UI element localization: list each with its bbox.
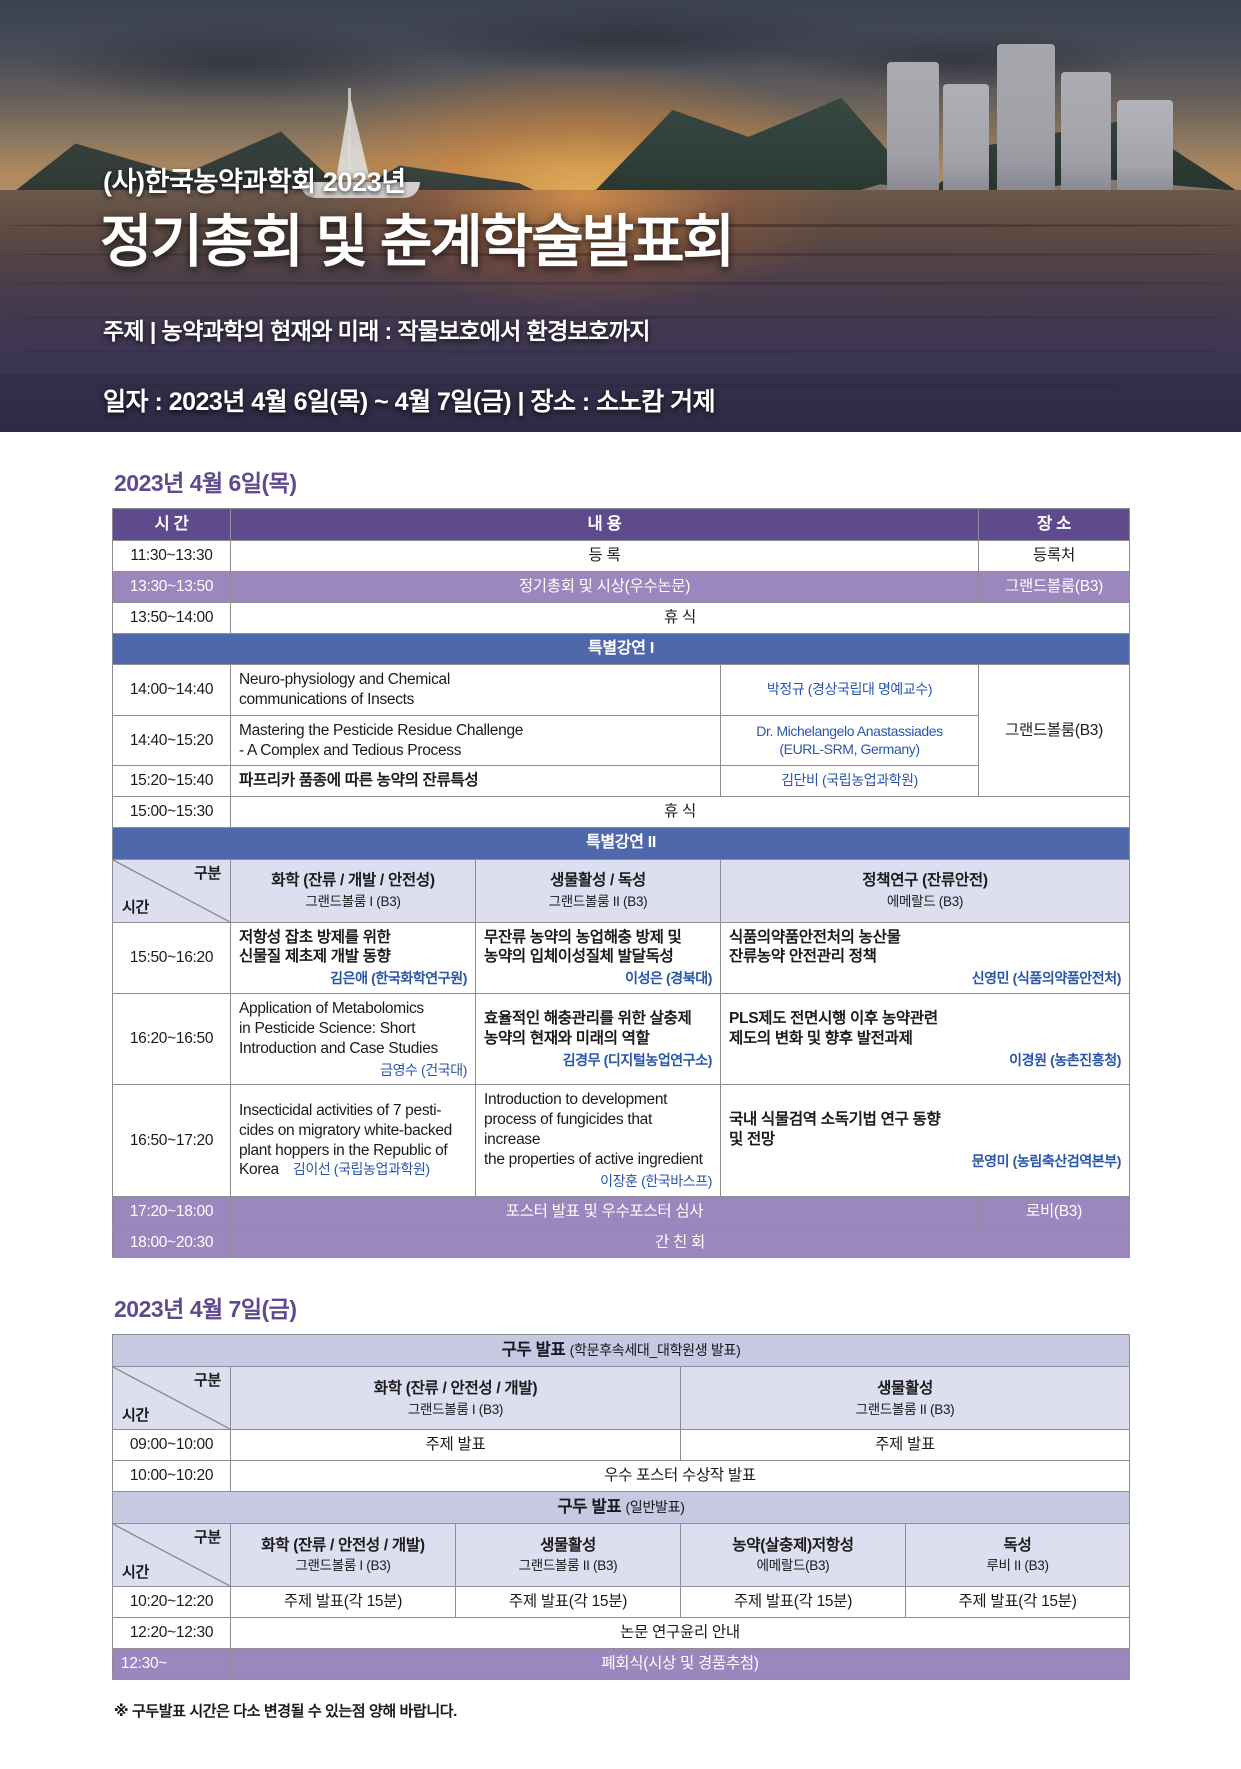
row-place: 그랜드볼룸(B3) (979, 571, 1130, 602)
track-name: 농약(살충제)저항성 (732, 1537, 853, 1554)
table-row: 11:30~13:30 등 록 등록처 (113, 541, 1130, 572)
day2-table: 구두 발표 (학문후속세대_대학원생 발표) 구분 시간 화학 (잔류 / 안전… (112, 1334, 1130, 1679)
session-cell: 주제 발표(각 15분) (456, 1587, 681, 1618)
track-room: 그랜드볼룸 I (B3) (239, 1401, 672, 1418)
table-row: 구두 발표 (일반발표) (113, 1492, 1130, 1524)
corner-kubun: 구분 (194, 864, 221, 883)
row-speaker: Dr. Michelangelo Anastassiades(EURL-SRM,… (721, 715, 979, 766)
band-sub-label: (학문후속세대_대학원생 발표) (570, 1342, 741, 1358)
table-row: 16:50~17:20 Insecticidal activities of 7… (113, 1085, 1130, 1196)
session-cell: 저항성 잡초 방제를 위한신물질 제초제 개발 동향 김은애 (한국화학연구원) (231, 922, 476, 994)
table-row: 14:00~14:40 Neuro-physiology and Chemica… (113, 665, 1130, 716)
row-time: 12:30~ (113, 1648, 231, 1679)
session-cell: PLS제도 전면시행 이후 농약관련제도의 변화 및 향후 발전과제 이경원 (… (721, 994, 1130, 1085)
row-content: 휴 식 (231, 797, 1130, 828)
row-title: 파프리카 품종에 따른 농약의 잔류특성 (231, 766, 721, 797)
table-row: 특별강연 II (113, 828, 1130, 859)
row-content: 포스터 발표 및 우수포스터 심사 (231, 1196, 979, 1227)
track-header-3: 농약(살충제)저항성 에메랄드(B3) (681, 1524, 906, 1587)
row-time: 13:50~14:00 (113, 602, 231, 633)
row-time: 11:30~13:30 (113, 541, 231, 572)
row-content: 우수 포스터 수상작 발표 (231, 1461, 1130, 1492)
table-row: 특별강연 I (113, 633, 1130, 664)
track-name: 생물활성 (877, 1380, 933, 1397)
row-time: 10:00~10:20 (113, 1461, 231, 1492)
corner-sigan: 시간 (122, 898, 149, 917)
speaker-name: 김은애 (한국화학연구원) (239, 970, 467, 988)
track-name: 독성 (1004, 1537, 1032, 1554)
table-row: 구분 시간 화학 (잔류 / 개발 / 안전성) 그랜드볼룸 I (B3) 생물… (113, 859, 1130, 922)
table-row: 17:20~18:00 포스터 발표 및 우수포스터 심사 로비(B3) (113, 1196, 1130, 1227)
session-cell: 주제 발표(각 15분) (906, 1587, 1130, 1618)
session-cell: 주제 발표(각 15분) (231, 1587, 456, 1618)
row-time: 18:00~20:30 (113, 1227, 231, 1258)
table-row: 12:20~12:30 논문 연구윤리 안내 (113, 1618, 1130, 1649)
row-time: 16:20~16:50 (113, 994, 231, 1085)
program-poster: (사)한국농약과학회 2023년 정기총회 및 춘계학술발표회 주제 | 농약과… (0, 0, 1241, 1769)
track-name: 화학 (잔류 / 안전성 / 개발) (261, 1537, 424, 1554)
corner-kubun: 구분 (194, 1371, 221, 1390)
col-header-place: 장 소 (979, 509, 1130, 541)
track-name: 생물활성 / 독성 (550, 872, 646, 889)
session-title: Application of Metabolomicsin Pesticide … (239, 1000, 438, 1057)
row-content: 간 친 회 (231, 1227, 1130, 1258)
speaker-name: 이장훈 (한국바스프) (484, 1173, 712, 1191)
speaker-name: 이성은 (경북대) (484, 970, 712, 988)
track-room: 에메랄드 (B3) (729, 893, 1121, 910)
speaker-name: 이경원 (농촌진흥청) (729, 1052, 1121, 1070)
track-room: 루비 II (B3) (914, 1557, 1121, 1574)
speaker-name: 박정규 (경상국립대 명예교수) (729, 681, 970, 699)
speaker-name: 문영미 (농림축산검역본부) (729, 1153, 1121, 1171)
table-row: 구분 시간 화학 (잔류 / 안전성 / 개발) 그랜드볼룸 I (B3) 생물… (113, 1524, 1130, 1587)
row-speaker: 김단비 (국립농업과학원) (721, 766, 979, 797)
row-content: 휴 식 (231, 602, 1130, 633)
row-time: 15:00~15:30 (113, 797, 231, 828)
oral-session-1-band: 구두 발표 (학문후속세대_대학원생 발표) (113, 1335, 1130, 1367)
table-row: 09:00~10:00 주제 발표 주제 발표 (113, 1430, 1130, 1461)
track-header-1: 화학 (잔류 / 안전성 / 개발) 그랜드볼룸 I (B3) (231, 1367, 681, 1430)
track-name: 화학 (잔류 / 개발 / 안전성) (271, 872, 434, 889)
track-name: 정책연구 (잔류안전) (862, 872, 987, 889)
corner-sigan: 시간 (122, 1406, 149, 1425)
footnote: ※ 구두발표 시간은 다소 변경될 수 있는점 양해 바랍니다. (114, 1700, 1129, 1721)
session-title: 저항성 잡초 방제를 위한신물질 제초제 개발 동향 (239, 929, 391, 966)
hero-banner: (사)한국농약과학회 2023년 정기총회 및 춘계학술발표회 주제 | 농약과… (0, 0, 1241, 432)
row-content: 논문 연구윤리 안내 (231, 1618, 1130, 1649)
day1-body: 시 간 내 용 장 소 11:30~13:30 등 록 등록처 13:30~13… (113, 509, 1130, 1258)
banner-dateline: 일자 : 2023년 4월 6일(목) ~ 4월 7일(금) | 장소 : 소노… (103, 382, 715, 418)
track-room: 그랜드볼룸 II (B3) (689, 1401, 1121, 1418)
row-time: 17:20~18:00 (113, 1196, 231, 1227)
session-cell: Application of Metabolomicsin Pesticide … (231, 994, 476, 1085)
banner-text-block: (사)한국농약과학회 2023년 정기총회 및 춘계학술발표회 주제 | 농약과… (0, 0, 1241, 432)
col-header-time: 시 간 (113, 509, 231, 541)
table-row: 구두 발표 (학문후속세대_대학원생 발표) (113, 1335, 1130, 1367)
table-row: 12:30~ 폐회식(시상 및 경품추첨) (113, 1648, 1130, 1679)
track-name: 생물활성 (540, 1537, 596, 1554)
row-time: 13:30~13:50 (113, 571, 231, 602)
session-cell: 식품의약품안전처의 농산물잔류농약 안전관리 정책 신영민 (식품의약품안전처) (721, 922, 1130, 994)
session-cell: Introduction to developmentprocess of fu… (476, 1085, 721, 1196)
track-header-2: 생물활성 / 독성 그랜드볼룸 II (B3) (476, 859, 721, 922)
session-title: PLS제도 전면시행 이후 농약관련제도의 변화 및 향후 발전과제 (729, 1010, 938, 1047)
row-time: 14:00~14:40 (113, 665, 231, 716)
row-title: Mastering the Pesticide Residue Challeng… (231, 715, 721, 766)
track-room: 그랜드볼룸 II (B3) (484, 893, 712, 910)
speaker-name: 김단비 (국립농업과학원) (729, 772, 970, 790)
row-time: 15:20~15:40 (113, 766, 231, 797)
row-content: 폐회식(시상 및 경품추첨) (231, 1648, 1130, 1679)
banner-pretitle: (사)한국농약과학회 2023년 (103, 160, 406, 199)
band-sub-label: (일반발표) (626, 1499, 685, 1515)
table-row: 구분 시간 화학 (잔류 / 안전성 / 개발) 그랜드볼룸 I (B3) 생물… (113, 1367, 1130, 1430)
speaker-name: 김이선 (국립농업과학원) (293, 1161, 430, 1177)
session-cell: 국내 식물검역 소독기법 연구 동향및 전망 문영미 (농림축산검역본부) (721, 1085, 1130, 1196)
corner-kubun: 구분 (194, 1528, 221, 1547)
row-content: 등 록 (231, 541, 979, 572)
table-row: 16:20~16:50 Application of Metabolomicsi… (113, 994, 1130, 1085)
row-title: Neuro-physiology and Chemicalcommunicati… (231, 665, 721, 716)
session-cell: Insecticidal activities of 7 pesti-cides… (231, 1085, 476, 1196)
special-lecture-1-band: 특별강연 I (113, 633, 1130, 664)
session-title: 국내 식물검역 소독기법 연구 동향및 전망 (729, 1111, 940, 1148)
row-content: 정기총회 및 시상(우수논문) (231, 571, 979, 602)
table-row: 시 간 내 용 장 소 (113, 509, 1130, 541)
day2-heading: 2023년 4월 7일(금) (114, 1290, 1129, 1324)
table-row: 10:20~12:20 주제 발표(각 15분) 주제 발표(각 15분) 주제… (113, 1587, 1130, 1618)
table-row: 15:20~15:40 파프리카 품종에 따른 농약의 잔류특성 김단비 (국립… (113, 766, 1130, 797)
table-row: 13:50~14:00 휴 식 (113, 602, 1130, 633)
band-main-label: 구두 발표 (557, 1498, 621, 1516)
row-time: 15:50~16:20 (113, 922, 231, 994)
table-row: 15:50~16:20 저항성 잡초 방제를 위한신물질 제초제 개발 동향 김… (113, 922, 1130, 994)
session-title: 효율적인 해충관리를 위한 살충제농약의 현재와 미래의 역할 (484, 1010, 691, 1047)
table-row: 10:00~10:20 우수 포스터 수상작 발표 (113, 1461, 1130, 1492)
speaker-name: 김경무 (디지털농업연구소) (484, 1052, 712, 1070)
corner-header: 구분 시간 (113, 1524, 231, 1587)
row-speaker: 박정규 (경상국립대 명예교수) (721, 665, 979, 716)
special-lecture-2-band: 특별강연 II (113, 828, 1130, 859)
row-time: 12:20~12:30 (113, 1618, 231, 1649)
speaker-name: Dr. Michelangelo Anastassiades(EURL-SRM,… (729, 723, 970, 759)
track-room: 그랜드볼룸 I (B3) (239, 1557, 447, 1574)
track-header-3: 정책연구 (잔류안전) 에메랄드 (B3) (721, 859, 1130, 922)
session-cell: 효율적인 해충관리를 위한 살충제농약의 현재와 미래의 역할 김경무 (디지털… (476, 994, 721, 1085)
table-row: 15:00~15:30 휴 식 (113, 797, 1130, 828)
speaker-name: 금영수 (건국대) (239, 1062, 467, 1080)
speaker-name: 신영민 (식품의약품안전처) (729, 970, 1121, 988)
track-header-1: 화학 (잔류 / 안전성 / 개발) 그랜드볼룸 I (B3) (231, 1524, 456, 1587)
session-cell: 주제 발표 (681, 1430, 1130, 1461)
row-time: 09:00~10:00 (113, 1430, 231, 1461)
session-title: 식품의약품안전처의 농산물잔류농약 안전관리 정책 (729, 929, 901, 966)
schedule-section: 2023년 4월 6일(목) 시 간 내 용 장 소 11:30~13:30 등… (0, 464, 1241, 1769)
row-time: 10:20~12:20 (113, 1587, 231, 1618)
row-place: 로비(B3) (979, 1196, 1130, 1227)
row-time: 14:40~15:20 (113, 715, 231, 766)
corner-header: 구분 시간 (113, 859, 231, 922)
row-place: 그랜드볼룸(B3) (979, 665, 1130, 797)
track-header-4: 독성 루비 II (B3) (906, 1524, 1130, 1587)
session-title: Introduction to developmentprocess of fu… (484, 1091, 703, 1167)
track-room: 에메랄드(B3) (689, 1557, 897, 1574)
session-cell: 주제 발표(각 15분) (681, 1587, 906, 1618)
corner-header: 구분 시간 (113, 1367, 231, 1430)
oral-session-2-band: 구두 발표 (일반발표) (113, 1492, 1130, 1524)
track-room: 그랜드볼룸 I (B3) (239, 893, 467, 910)
table-row: 14:40~15:20 Mastering the Pesticide Resi… (113, 715, 1130, 766)
corner-sigan: 시간 (122, 1563, 149, 1582)
track-header-1: 화학 (잔류 / 개발 / 안전성) 그랜드볼룸 I (B3) (231, 859, 476, 922)
row-time: 16:50~17:20 (113, 1085, 231, 1196)
col-header-content: 내 용 (231, 509, 979, 541)
banner-subject: 주제 | 농약과학의 현재와 미래 : 작물보호에서 환경보호까지 (103, 312, 650, 346)
session-cell: 무잔류 농약의 농업해충 방제 및농약의 입체이성질체 발달독성 이성은 (경북… (476, 922, 721, 994)
day1-heading: 2023년 4월 6일(목) (114, 464, 1129, 498)
track-name: 화학 (잔류 / 안전성 / 개발) (374, 1380, 537, 1397)
band-main-label: 구두 발표 (502, 1341, 566, 1359)
track-header-2: 생물활성 그랜드볼룸 II (B3) (456, 1524, 681, 1587)
session-cell: 주제 발표 (231, 1430, 681, 1461)
track-header-2: 생물활성 그랜드볼룸 II (B3) (681, 1367, 1130, 1430)
table-row: 13:30~13:50 정기총회 및 시상(우수논문) 그랜드볼룸(B3) (113, 571, 1130, 602)
table-row: 18:00~20:30 간 친 회 (113, 1227, 1130, 1258)
day2-body: 구두 발표 (학문후속세대_대학원생 발표) 구분 시간 화학 (잔류 / 안전… (113, 1335, 1130, 1679)
session-title: 무잔류 농약의 농업해충 방제 및농약의 입체이성질체 발달독성 (484, 929, 682, 966)
track-room: 그랜드볼룸 II (B3) (464, 1557, 672, 1574)
day1-table: 시 간 내 용 장 소 11:30~13:30 등 록 등록처 13:30~13… (112, 508, 1130, 1258)
row-place: 등록처 (979, 541, 1130, 572)
banner-title: 정기총회 및 춘계학술발표회 (100, 196, 733, 278)
